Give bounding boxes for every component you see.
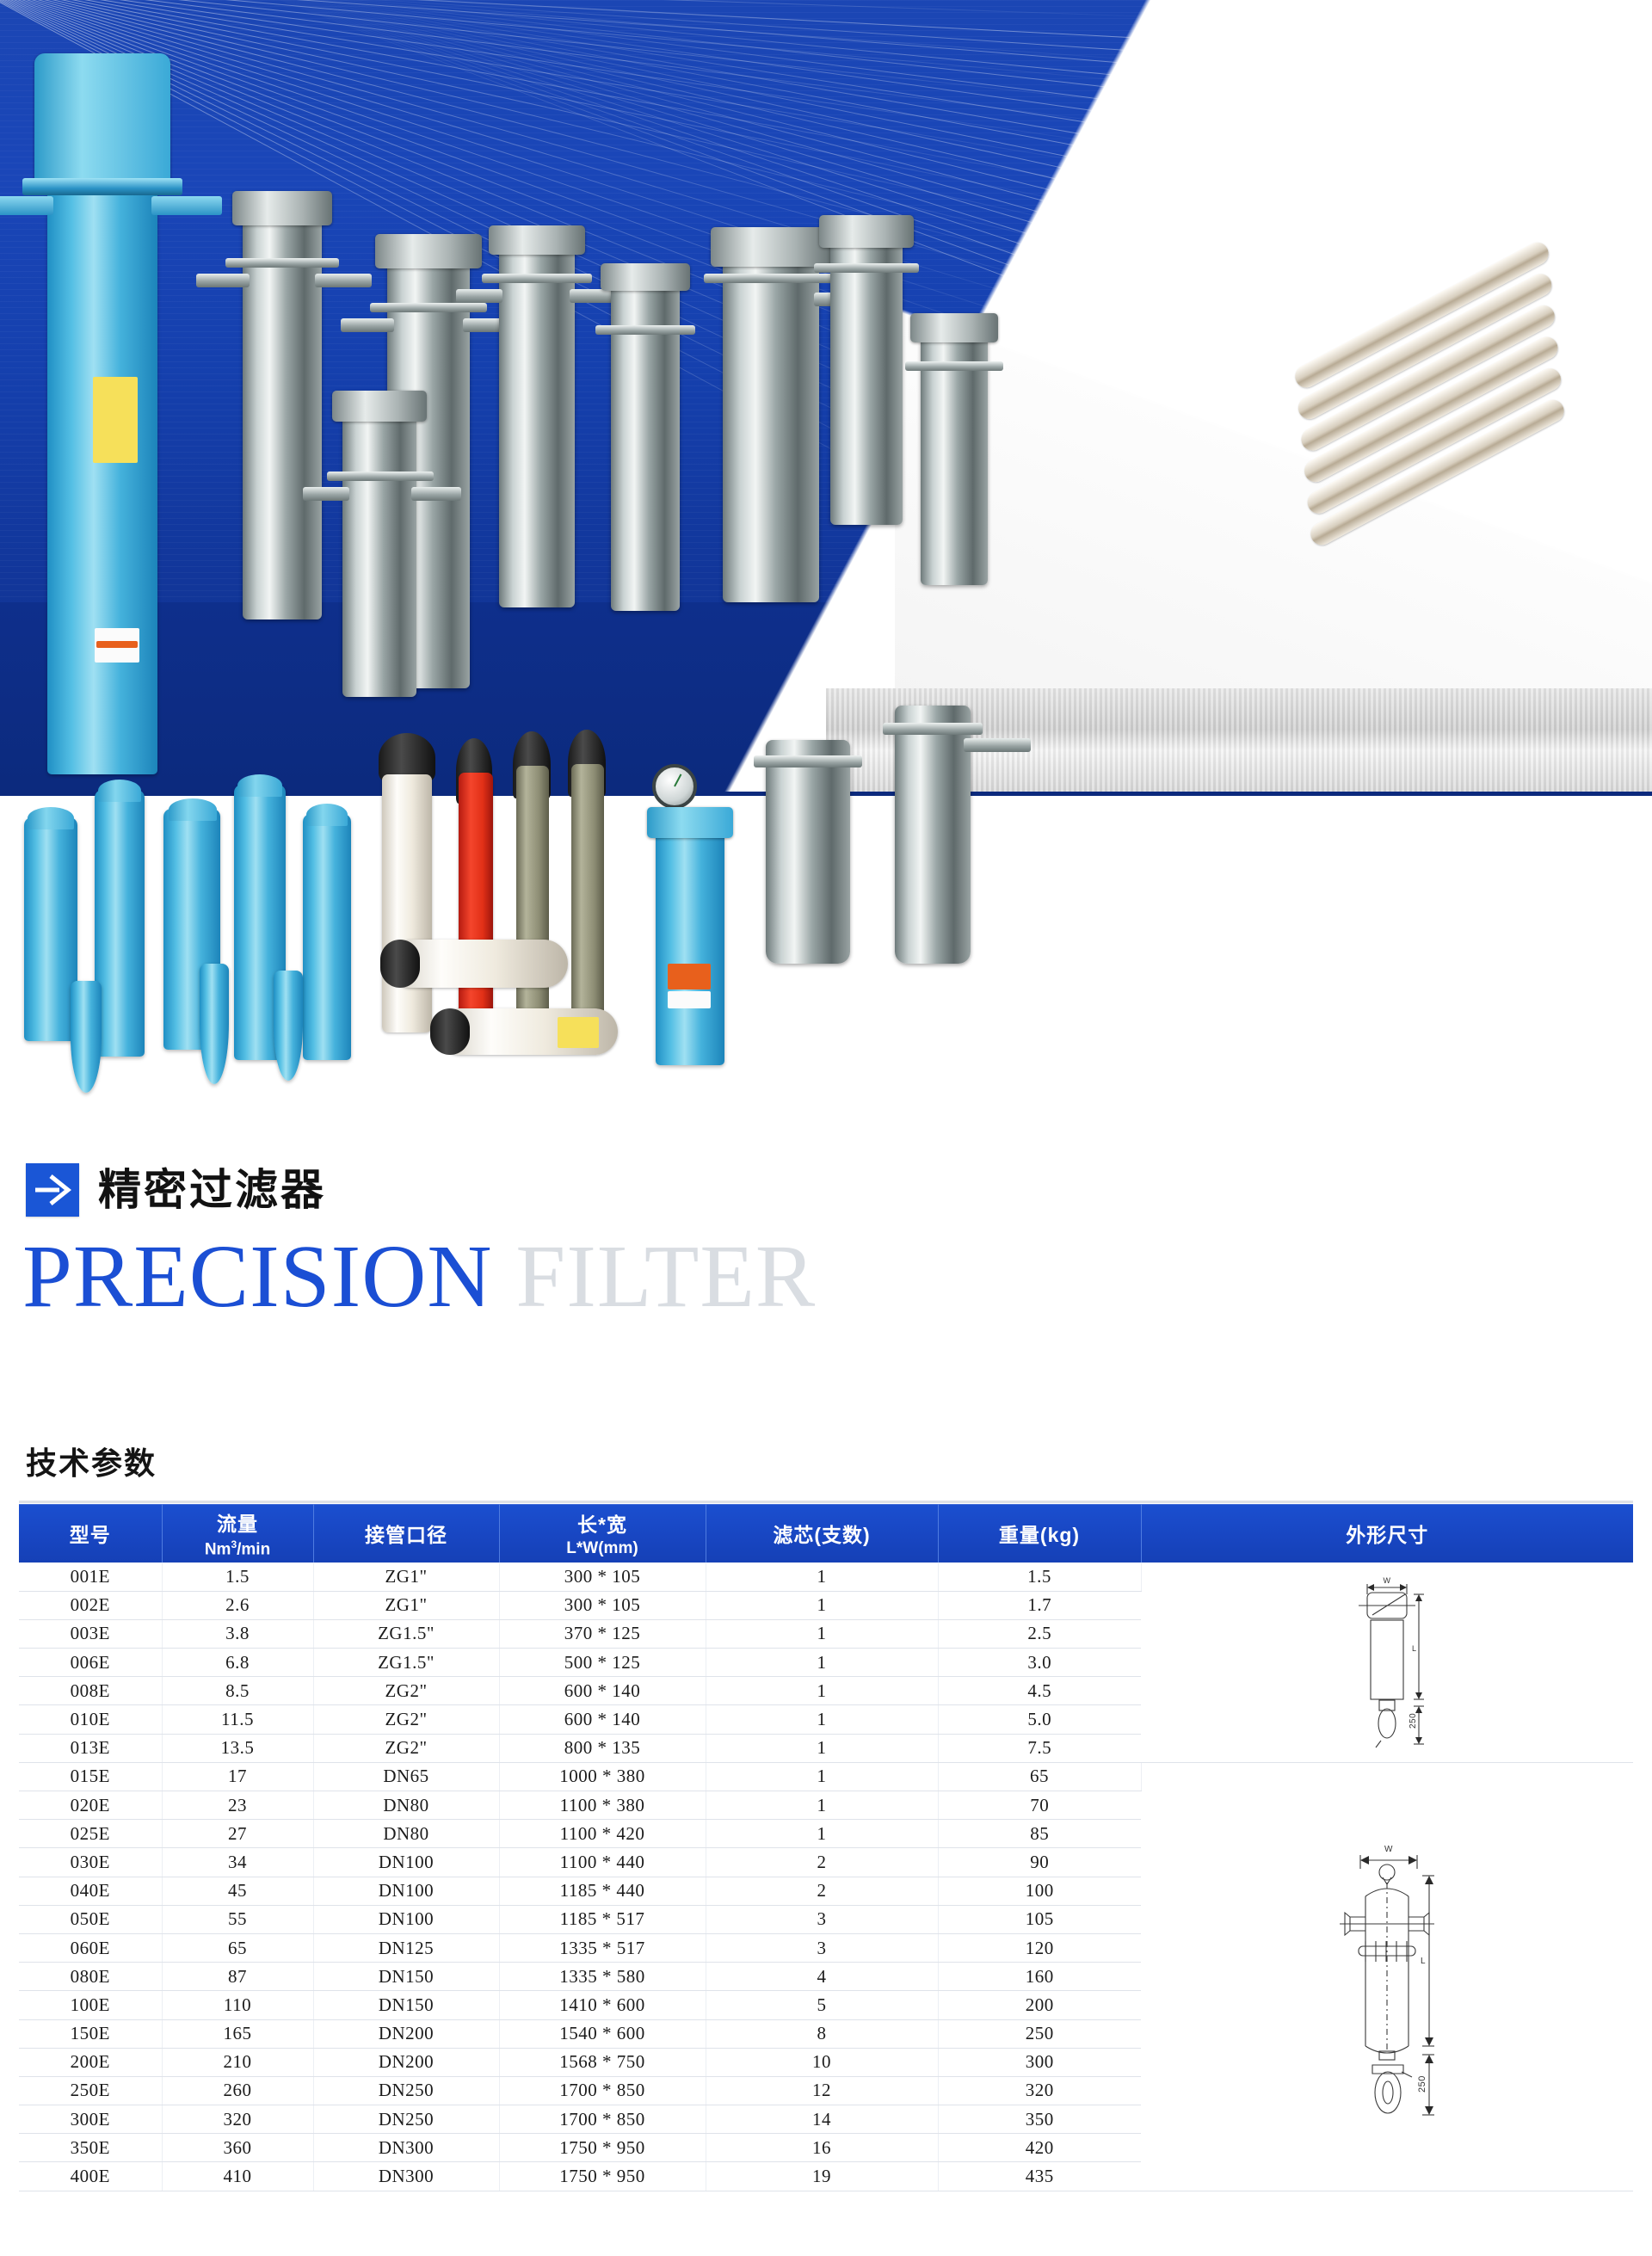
product-cyan-vessel-head bbox=[34, 53, 170, 182]
table-cell-flow: 6.8 bbox=[162, 1649, 313, 1677]
table-cell-lw: 1410 * 600 bbox=[499, 1991, 706, 2019]
table-cell-lw: 1540 * 600 bbox=[499, 2019, 706, 2048]
table-cell-weight: 350 bbox=[938, 2105, 1141, 2134]
table-cell-model: 200E bbox=[19, 2048, 162, 2076]
table-cell-lw: 1185 * 440 bbox=[499, 1877, 706, 1905]
table-cell-flow: 23 bbox=[162, 1791, 313, 1820]
table-cell-port: DN150 bbox=[313, 1991, 499, 2019]
table-top-rule bbox=[19, 1501, 1633, 1503]
table-cell-elements: 1 bbox=[706, 1762, 938, 1791]
table-cell-model: 010E bbox=[19, 1705, 162, 1734]
table-cell-weight: 320 bbox=[938, 2076, 1141, 2105]
table-cell-port: DN150 bbox=[313, 1963, 499, 1991]
product-cyan-small-2-top bbox=[98, 780, 141, 802]
table-cell-model: 001E bbox=[19, 1563, 162, 1591]
table-cell-model: 350E bbox=[19, 2134, 162, 2162]
table-header-cell-4: 滤芯(支数) bbox=[706, 1504, 938, 1563]
table-cell-lw: 500 * 125 bbox=[499, 1649, 706, 1677]
svg-text:W: W bbox=[1384, 1845, 1393, 1854]
table-cell-model: 025E bbox=[19, 1820, 162, 1848]
table-header-cell-6: 外形尺寸 bbox=[1141, 1504, 1633, 1563]
table-cell-weight: 105 bbox=[938, 1905, 1141, 1933]
table-cell-flow: 34 bbox=[162, 1848, 313, 1877]
table-cell-weight: 160 bbox=[938, 1963, 1141, 1991]
table-cell-elements: 1 bbox=[706, 1791, 938, 1820]
page-title-en-secondary: FILTER bbox=[515, 1227, 816, 1326]
product-cyan-vessel-flange bbox=[22, 178, 182, 195]
table-cell-lw: 800 * 135 bbox=[499, 1734, 706, 1762]
table-cell-port: ZG1" bbox=[313, 1591, 499, 1619]
product-steel-vessel-4-cap bbox=[489, 225, 585, 255]
table-cell-flow: 210 bbox=[162, 2048, 313, 2076]
table-header-cell-5: 重量(kg) bbox=[938, 1504, 1141, 1563]
table-cell-lw: 1000 * 380 bbox=[499, 1762, 706, 1791]
product-cyan-small-4-top bbox=[237, 774, 282, 797]
product-steel-vessel-8-cap bbox=[910, 313, 998, 342]
table-cell-elements: 14 bbox=[706, 2105, 938, 2134]
table-cell-model: 250E bbox=[19, 2076, 162, 2105]
table-cell-port: ZG2" bbox=[313, 1734, 499, 1762]
product-cyan-small-1-top bbox=[28, 807, 74, 829]
table-cell-model: 002E bbox=[19, 1591, 162, 1619]
product-element-lying-cap-1 bbox=[380, 940, 420, 988]
table-cell-lw: 370 * 125 bbox=[499, 1619, 706, 1648]
table-cell-port: ZG2" bbox=[313, 1677, 499, 1705]
table-cell-weight: 85 bbox=[938, 1820, 1141, 1848]
table-cell-lw: 1100 * 440 bbox=[499, 1848, 706, 1877]
drawing-box: WL250 bbox=[1142, 1834, 1634, 2118]
table-cell-lw: 300 * 105 bbox=[499, 1591, 706, 1619]
outline-drawing-cell-large: WL250 bbox=[1141, 1762, 1633, 2191]
table-cell-model: 400E bbox=[19, 2162, 162, 2191]
outline-drawing-cell-small: WL250 bbox=[1141, 1563, 1633, 1762]
table-cell-port: DN100 bbox=[313, 1905, 499, 1933]
page-title-en-primary: PRECISION bbox=[22, 1227, 492, 1326]
table-cell-flow: 1.5 bbox=[162, 1563, 313, 1591]
table-row: 015E17DN651000 * 380165WL250 bbox=[19, 1762, 1633, 1791]
table-cell-weight: 420 bbox=[938, 2134, 1141, 2162]
table-cell-model: 050E bbox=[19, 1905, 162, 1933]
product-steel-vessel-4 bbox=[499, 246, 575, 607]
product-element-olive-2 bbox=[571, 764, 604, 1022]
svg-text:W: W bbox=[1384, 1576, 1391, 1585]
product-steel-vessel-3-cap bbox=[332, 391, 427, 422]
product-steel-horizontal-2-nozzle bbox=[964, 738, 1031, 752]
table-cell-lw: 300 * 105 bbox=[499, 1563, 706, 1591]
table-cell-elements: 2 bbox=[706, 1877, 938, 1905]
table-cell-flow: 17 bbox=[162, 1762, 313, 1791]
table-cell-lw: 1568 * 750 bbox=[499, 2048, 706, 2076]
table-header-main: 长*宽 bbox=[577, 1513, 627, 1536]
table-cell-flow: 87 bbox=[162, 1963, 313, 1991]
table-cell-weight: 100 bbox=[938, 1877, 1141, 1905]
spec-table-wrapper: 型号流量Nm3/min接管口径长*宽L*W(mm)滤芯(支数)重量(kg)外形尺… bbox=[19, 1504, 1633, 2191]
table-cell-model: 100E bbox=[19, 1991, 162, 2019]
table-cell-elements: 19 bbox=[706, 2162, 938, 2191]
table-cell-model: 006E bbox=[19, 1649, 162, 1677]
table-cell-lw: 1700 * 850 bbox=[499, 2076, 706, 2105]
table-header-cell-3: 长*宽L*W(mm) bbox=[499, 1504, 706, 1563]
table-cell-weight: 300 bbox=[938, 2048, 1141, 2076]
table-cell-elements: 4 bbox=[706, 1963, 938, 1991]
product-cyan-small-7 bbox=[200, 964, 229, 1084]
table-cell-flow: 45 bbox=[162, 1877, 313, 1905]
product-steel-vessel-1-nozzle-r bbox=[315, 274, 372, 287]
product-gauge-housing-label bbox=[668, 964, 711, 989]
table-header-sub: L*W(mm) bbox=[500, 1539, 706, 1558]
table-cell-elements: 12 bbox=[706, 2076, 938, 2105]
product-steel-vessel-4-nozzle-l bbox=[456, 289, 502, 303]
product-steel-vessel-6 bbox=[723, 258, 819, 602]
table-cell-flow: 3.8 bbox=[162, 1619, 313, 1648]
table-cell-weight: 435 bbox=[938, 2162, 1141, 2191]
table-cell-elements: 1 bbox=[706, 1619, 938, 1648]
product-cyan-small-1 bbox=[24, 817, 77, 1041]
product-steel-vessel-5-cap bbox=[601, 263, 690, 291]
table-cell-model: 015E bbox=[19, 1762, 162, 1791]
product-steel-vessel-6-cap bbox=[711, 227, 831, 267]
product-label-yellow bbox=[93, 377, 138, 463]
table-cell-flow: 55 bbox=[162, 1905, 313, 1933]
table-header-main: 接管口径 bbox=[365, 1524, 447, 1546]
table-cell-flow: 27 bbox=[162, 1820, 313, 1848]
table-cell-elements: 5 bbox=[706, 1991, 938, 2019]
page-title-cn: 精密过滤器 bbox=[98, 1168, 326, 1211]
table-header-main: 外形尺寸 bbox=[1346, 1524, 1428, 1546]
table-cell-weight: 4.5 bbox=[938, 1677, 1141, 1705]
product-steel-vessel-1-flange bbox=[225, 258, 339, 268]
table-cell-elements: 10 bbox=[706, 2048, 938, 2076]
table-cell-model: 020E bbox=[19, 1791, 162, 1820]
product-steel-vessel-2-flange bbox=[370, 303, 487, 312]
table-cell-elements: 1 bbox=[706, 1820, 938, 1848]
table-cell-flow: 13.5 bbox=[162, 1734, 313, 1762]
table-cell-elements: 1 bbox=[706, 1563, 938, 1591]
product-cyan-with-gauge bbox=[656, 824, 724, 1065]
spec-table-body: 001E1.5ZG1"300 * 10511.5WL250002E2.6ZG1"… bbox=[19, 1563, 1633, 2191]
product-cyan-vessel-large bbox=[47, 172, 157, 774]
product-steel-vessel-3-nozzle-l bbox=[303, 487, 349, 501]
table-cell-model: 300E bbox=[19, 2105, 162, 2134]
table-cell-weight: 3.0 bbox=[938, 1649, 1141, 1677]
product-steel-vessel-5-flange bbox=[595, 325, 695, 335]
section-heading-spec: 技术参数 bbox=[26, 1439, 157, 1483]
product-cyan-vessel-nozzle-right bbox=[151, 196, 222, 215]
table-cell-port: DN250 bbox=[313, 2105, 499, 2134]
table-cell-lw: 600 * 140 bbox=[499, 1705, 706, 1734]
product-steel-vessel-horizontal-2 bbox=[895, 706, 971, 964]
table-cell-port: ZG1.5" bbox=[313, 1619, 499, 1648]
table-cell-model: 030E bbox=[19, 1848, 162, 1877]
product-steel-vessel-3 bbox=[342, 413, 416, 697]
table-cell-port: ZG1" bbox=[313, 1563, 499, 1591]
table-cell-weight: 5.0 bbox=[938, 1705, 1141, 1734]
product-steel-vessel-3-nozzle-r bbox=[411, 487, 461, 501]
product-steel-vessel-horizontal-1 bbox=[766, 740, 850, 964]
table-cell-model: 150E bbox=[19, 2019, 162, 2048]
table-cell-lw: 1750 * 950 bbox=[499, 2134, 706, 2162]
table-cell-model: 040E bbox=[19, 1877, 162, 1905]
table-cell-port: DN250 bbox=[313, 2076, 499, 2105]
product-cyan-small-5 bbox=[303, 814, 351, 1060]
table-cell-lw: 1100 * 420 bbox=[499, 1820, 706, 1848]
pressure-gauge-icon bbox=[652, 764, 697, 809]
table-cell-weight: 70 bbox=[938, 1791, 1141, 1820]
table-cell-flow: 11.5 bbox=[162, 1705, 313, 1734]
table-cell-elements: 2 bbox=[706, 1848, 938, 1877]
drawing-box: WL250 bbox=[1142, 1572, 1634, 1753]
table-row: 001E1.5ZG1"300 * 10511.5WL250 bbox=[19, 1563, 1633, 1591]
table-cell-lw: 1700 * 850 bbox=[499, 2105, 706, 2134]
product-steel-vessel-2-cap bbox=[375, 234, 482, 268]
product-steel-vessel-8 bbox=[921, 336, 988, 585]
table-cell-elements: 1 bbox=[706, 1705, 938, 1734]
table-cell-weight: 120 bbox=[938, 1933, 1141, 1962]
spec-table: 型号流量Nm3/min接管口径长*宽L*W(mm)滤芯(支数)重量(kg)外形尺… bbox=[19, 1504, 1633, 2191]
product-element-white-1 bbox=[382, 774, 432, 1032]
product-cyan-with-gauge-head bbox=[647, 807, 733, 838]
table-cell-weight: 65 bbox=[938, 1762, 1141, 1791]
flanged-vessel-drawing: WL250 bbox=[1305, 1834, 1469, 2118]
spec-table-head: 型号流量Nm3/min接管口径长*宽L*W(mm)滤芯(支数)重量(kg)外形尺… bbox=[19, 1504, 1633, 1563]
table-cell-port: DN300 bbox=[313, 2162, 499, 2191]
product-steel-vessel-4-flange bbox=[482, 274, 592, 283]
table-cell-port: DN65 bbox=[313, 1762, 499, 1791]
product-steel-vessel-3-flange bbox=[327, 472, 434, 481]
product-element-lying-label bbox=[558, 1017, 599, 1048]
product-cyan-small-3-top bbox=[169, 798, 217, 821]
table-cell-port: DN200 bbox=[313, 2019, 499, 2048]
table-header-cell-2: 接管口径 bbox=[313, 1504, 499, 1563]
product-steel-vessel-8-flange bbox=[905, 361, 1003, 371]
table-cell-port: DN100 bbox=[313, 1877, 499, 1905]
product-steel-vessel-1-nozzle-l bbox=[196, 274, 250, 287]
product-cyan-small-5-top bbox=[306, 804, 348, 826]
product-steel-vessel-7 bbox=[830, 241, 903, 525]
table-cell-flow: 110 bbox=[162, 1991, 313, 2019]
table-cell-weight: 7.5 bbox=[938, 1734, 1141, 1762]
svg-text:L: L bbox=[1421, 1957, 1426, 1966]
product-title-block: 精密过滤器 PRECISION FILTER bbox=[0, 1163, 1652, 1325]
product-element-red bbox=[459, 773, 493, 1031]
hero-banner bbox=[0, 0, 1652, 1153]
product-steel-vessel-7-cap bbox=[819, 215, 914, 248]
table-cell-weight: 250 bbox=[938, 2019, 1141, 2048]
table-cell-port: ZG1.5" bbox=[313, 1649, 499, 1677]
table-header-main: 滤芯(支数) bbox=[773, 1524, 870, 1546]
table-header-sub: Nm3/min bbox=[163, 1538, 313, 1559]
table-cell-weight: 2.5 bbox=[938, 1619, 1141, 1648]
product-steel-vessel-2-nozzle-l bbox=[341, 318, 394, 332]
table-cell-lw: 1100 * 380 bbox=[499, 1791, 706, 1820]
page-title-en: PRECISION FILTER bbox=[0, 1229, 1652, 1325]
table-cell-port: DN125 bbox=[313, 1933, 499, 1962]
table-cell-weight: 90 bbox=[938, 1848, 1141, 1877]
table-cell-lw: 1335 * 517 bbox=[499, 1933, 706, 1962]
table-cell-port: DN200 bbox=[313, 2048, 499, 2076]
svg-text:L: L bbox=[1412, 1644, 1417, 1653]
table-cell-elements: 1 bbox=[706, 1649, 938, 1677]
table-cell-elements: 1 bbox=[706, 1677, 938, 1705]
svg-text:250: 250 bbox=[1409, 1713, 1418, 1729]
product-steel-vessel-6-flange bbox=[704, 274, 838, 283]
table-cell-lw: 1335 * 580 bbox=[499, 1963, 706, 1991]
table-cell-flow: 165 bbox=[162, 2019, 313, 2048]
product-steel-vessel-1-cap bbox=[232, 191, 332, 225]
table-cell-elements: 1 bbox=[706, 1591, 938, 1619]
table-cell-elements: 3 bbox=[706, 1905, 938, 1933]
svg-text:250: 250 bbox=[1417, 2075, 1427, 2093]
table-cell-lw: 600 * 140 bbox=[499, 1677, 706, 1705]
product-steel-vessel-1 bbox=[243, 215, 322, 619]
product-element-lying-cap-2 bbox=[430, 1008, 470, 1055]
table-cell-flow: 410 bbox=[162, 2162, 313, 2191]
table-cell-port: DN80 bbox=[313, 1791, 499, 1820]
table-cell-elements: 3 bbox=[706, 1933, 938, 1962]
table-cell-weight: 1.5 bbox=[938, 1563, 1141, 1591]
table-cell-port: DN100 bbox=[313, 1848, 499, 1877]
table-cell-weight: 200 bbox=[938, 1991, 1141, 2019]
table-header-main: 型号 bbox=[70, 1524, 111, 1546]
table-cell-port: DN300 bbox=[313, 2134, 499, 2162]
table-header-main: 重量(kg) bbox=[999, 1524, 1080, 1546]
table-cell-lw: 1185 * 517 bbox=[499, 1905, 706, 1933]
product-cyan-small-6 bbox=[71, 981, 102, 1093]
table-cell-flow: 65 bbox=[162, 1933, 313, 1962]
table-cell-model: 013E bbox=[19, 1734, 162, 1762]
table-header-row: 型号流量Nm3/min接管口径长*宽L*W(mm)滤芯(支数)重量(kg)外形尺… bbox=[19, 1504, 1633, 1563]
table-cell-weight: 1.7 bbox=[938, 1591, 1141, 1619]
product-steel-vessel-7-flange bbox=[814, 263, 919, 273]
product-cyan-vessel-nozzle-left bbox=[0, 196, 53, 215]
table-cell-model: 003E bbox=[19, 1619, 162, 1648]
product-steel-horizontal-1-flange bbox=[754, 755, 862, 767]
table-cell-port: DN80 bbox=[313, 1820, 499, 1848]
product-cyan-small-8 bbox=[274, 971, 303, 1081]
table-cell-flow: 260 bbox=[162, 2076, 313, 2105]
product-cyan-small-2 bbox=[95, 790, 145, 1057]
table-cell-model: 008E bbox=[19, 1677, 162, 1705]
table-header-cell-1: 流量Nm3/min bbox=[162, 1504, 313, 1563]
table-cell-flow: 8.5 bbox=[162, 1677, 313, 1705]
table-cell-port: ZG2" bbox=[313, 1705, 499, 1734]
table-cell-elements: 16 bbox=[706, 2134, 938, 2162]
table-header-main: 流量 bbox=[217, 1513, 258, 1535]
table-cell-flow: 320 bbox=[162, 2105, 313, 2134]
table-cell-flow: 360 bbox=[162, 2134, 313, 2162]
product-label-orange bbox=[96, 641, 138, 648]
chinese-title-row: 精密过滤器 bbox=[0, 1163, 1652, 1217]
table-cell-lw: 1750 * 950 bbox=[499, 2162, 706, 2191]
arrow-right-icon bbox=[26, 1163, 79, 1217]
table-cell-elements: 8 bbox=[706, 2019, 938, 2048]
inline-filter-drawing: WL250 bbox=[1322, 1572, 1452, 1753]
table-header-cell-0: 型号 bbox=[19, 1504, 162, 1563]
product-gauge-housing-label-white bbox=[668, 991, 711, 1008]
table-cell-elements: 1 bbox=[706, 1734, 938, 1762]
table-cell-model: 060E bbox=[19, 1933, 162, 1962]
table-cell-model: 080E bbox=[19, 1963, 162, 1991]
table-cell-flow: 2.6 bbox=[162, 1591, 313, 1619]
product-steel-horizontal-2-flange bbox=[883, 723, 983, 735]
